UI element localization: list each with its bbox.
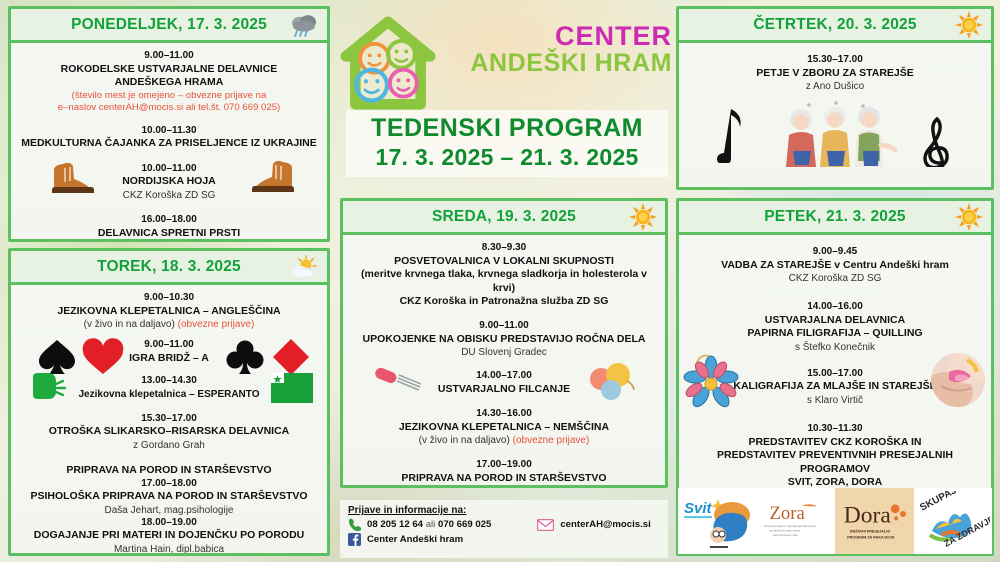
event-item: 9.00–11.00 ROKODELSKE USTVARJALNE DELAVN… [17,50,321,115]
event-time: 18.00–19.00 [17,517,321,530]
event-name: MEDKULTURNA ČAJANKA ZA PRISELJENCE IZ UK… [17,137,321,151]
contact-block: Prijave in informacije na: 08 205 12 64 … [340,500,668,558]
contact-header: Prijave in informacije na: [348,505,660,516]
partner-logo-svit: Svit [678,488,757,554]
event-name: PSIHOLOŠKA PRIPRAVA NA POROD IN STARŠEVS… [17,490,321,504]
event-name: VADBA ZA STAREJŠE v Centru Andeški hram [685,259,985,273]
sun-icon [955,203,983,231]
partner-logos-strip: Svit Zora Državni program zgodnjega odkr… [678,488,992,554]
esperanto-flag-icon [271,373,313,403]
treble-clef-icon [923,101,955,167]
event-sub: z Ano Dušico [685,80,985,93]
event-item: 9.00–11.00 UPOKOJENKE NA OBISKU PREDSTAV… [349,320,659,359]
day-title-monday: PONEDELJEK, 17. 3. 2025 [71,16,267,34]
day-header-friday: PETEK, 21. 3. 2025 [679,201,991,235]
day-card-monday: PONEDELJEK, 17. 3. 2025 9.00–11.00 ROKOD… [8,6,330,242]
contact-facebook-page[interactable]: Center Andeški hram [367,534,463,545]
hiking-boot-icon [51,159,95,197]
wool-balls-icon [583,362,643,402]
day-title-thursday: ČETRTEK, 20. 3. 2025 [753,16,916,34]
day-card-thursday: ČETRTEK, 20. 3. 2025 15.30–17.00 PETJE V… [676,6,994,190]
event-sub-note: (obvezne prijave) [513,435,590,446]
contact-row-facebook: Center Andeški hram [348,533,660,546]
event-sub: DU Slovenj Gradec [349,346,659,359]
event-item: 15.30–17.00 OTROŠKA SLIKARSKO–RISARSKA D… [17,413,321,452]
event-time: 8.30–9.30 [349,242,659,255]
sun-icon [629,203,657,231]
rain-cloud-icon [289,12,319,38]
brand-line-2: ANDEŠKI HRAM [434,50,672,78]
event-name: PETJE V ZBORU ZA STAREJŠE [685,67,985,81]
svit-logo: Svit [680,491,754,551]
event-name: POSVETOVALNICA V LOKALNI SKUPNOSTI (meri… [349,255,659,310]
singing-seniors-choir-illustration [773,99,901,173]
event-item: 15.00–17.00 KALIGRAFIJA ZA MLAJŠE IN STA… [685,368,985,407]
event-time: 9.00–11.00 [349,320,659,333]
event-sub: (v živo in na daljavo) [84,319,178,330]
card-suits-club-diamond-icon [219,337,315,377]
event-name: USTVARJALNA DELAVNICA PAPIRNA FILIGRAFIJ… [685,314,985,341]
event-name: DELAVNICA SPRETNI PRSTI [17,227,321,240]
event-name: JEZIKOVNA KLEPETALNICA – NEMŠČINA [349,421,659,435]
event-item: 10.00–11.30 MEDKULTURNA ČAJANKA ZA PRISE… [17,125,321,151]
svg-text:materničnega vratu: materničnega vratu [772,533,798,537]
contact-row-phone-email: 08 205 12 64 ali 070 669 025 centerAH@mo… [348,518,660,531]
svg-text:DRŽAVNI PRESEJALNI: DRŽAVNI PRESEJALNI [850,528,890,533]
event-item: 9.00–9.45 VADBA ZA STAREJŠE v Centru And… [685,246,985,285]
event-time: 17.00–19.00 [349,459,659,472]
program-title: TEDENSKI PROGRAM [346,114,668,144]
event-time: 10.30–11.30 [685,423,985,436]
event-item: PRIPRAVA NA POROD IN STARŠEVSTVO 17.00–1… [17,464,321,553]
quilled-paper-flower-icon [681,352,741,410]
day-header-thursday: ČETRTEK, 20. 3. 2025 [679,9,991,43]
partner-logo-dora: Dora DRŽAVNI PRESEJALNI PROGRAM ZA RAKA … [835,488,914,554]
envelope-icon [537,519,554,531]
event-group-header: PRIPRAVA NA POROD IN STARŠEVSTVO [17,464,321,478]
event-note: (število mest je omejeno – obvezne prija… [17,90,321,115]
event-name: UPOKOJENKE NA OBISKU PREDSTAVIJO ROČNA D… [349,333,659,347]
event-time: 16.00–18.00 [17,214,321,227]
event-sub: Daša Jehart, mag.psihologije [17,504,321,517]
phone-separator: ali [426,519,436,530]
svg-text:SKUPAJ: SKUPAJ [918,491,958,514]
svg-text:Državni program zgodnjega odkr: Državni program zgodnjega odkrivanja [764,524,816,528]
event-time: 14.00–16.00 [685,301,985,314]
event-name: OTROŠKA SLIKARSKO–RISARSKA DELAVNICA [17,425,321,439]
svg-text:Zora: Zora [769,503,805,524]
svg-text:Dora: Dora [844,503,892,529]
svg-text:predrakavih sprememb: predrakavih sprememb [769,529,800,533]
phone-2: 070 669 025 [438,519,491,530]
event-sub: (v živo in na daljavo) [419,435,513,446]
event-time: 14.30–16.00 [349,408,659,421]
contact-email[interactable]: centerAH@mocis.si [560,519,650,530]
day-title-wednesday: SREDA, 19. 3. 2025 [432,208,576,226]
event-item: 14.00–17.00 USTVARJALNO FILCANJE [349,370,659,396]
event-item: 14.00–16.00 USTVARJALNA DELAVNICA PAPIRN… [685,301,985,354]
event-sub-line: (v živo in na daljavo) (obvezne prijave) [349,434,659,447]
event-item: 14.30–16.00 JEZIKOVNA KLEPETALNICA – NEM… [349,408,659,447]
partner-logo-skupaj-za-zdravje: SKUPAJ ZA ZDRAVJE [914,488,993,554]
sun-icon [955,11,983,39]
event-time: 9.00–10.30 [17,292,321,305]
event-item: 9.00–10.30 JEZIKOVNA KLEPETALNICA – ANGL… [17,292,321,331]
event-name: DOGAJANJE PRI MATERI IN DOJENČKU PO PORO… [17,529,321,543]
event-time: 9.00–9.45 [685,246,985,259]
event-sub: CKZ Koroška ZD SG [685,272,985,285]
day-body-thursday: 15.30–17.00 PETJE V ZBORU ZA STAREJŠE z … [679,43,991,187]
day-header-wednesday: SREDA, 19. 3. 2025 [343,201,665,235]
event-time: 9.00–11.00 [17,50,321,63]
quilling-hands-icon [929,352,987,408]
event-sub: z Gordano Grah [17,439,321,452]
event-item: 16.00–18.00 DELAVNICA SPRETNI PRSTI z Ma… [17,214,321,239]
phone-1: 08 205 12 64 [367,519,423,530]
day-title-tuesday: TOREK, 18. 3. 2025 [97,258,241,276]
speaking-head-icon [27,371,71,405]
event-name: ROKODELSKE USTVARJALNE DELAVNICE ANDEŠKE… [17,63,321,90]
event-item: 13.00–14.30 Jezikovna klepetalnica – ESP… [17,375,321,401]
sun-behind-cloud-icon [289,254,319,280]
facebook-icon[interactable] [348,533,361,546]
brand-name: CENTER ANDEŠKI HRAM [434,22,672,78]
event-name: PRIPRAVA NA POROD IN STARŠEVSTVO NEGA NO… [349,472,659,485]
center-header: CENTER ANDEŠKI HRAM TEDENSKI PROGRAM 17.… [336,0,672,194]
event-item: 10.00–11.00 NORDIJSKA HOJA CKZ Koroška Z… [17,163,321,202]
thursday-illustration-row [685,99,985,177]
day-title-friday: PETEK, 21. 3. 2025 [764,208,905,226]
event-time: 15.30–17.00 [685,54,985,67]
day-header-monday: PONEDELJEK, 17. 3. 2025 [11,9,327,43]
program-title-block: TEDENSKI PROGRAM 17. 3. 2025 – 21. 3. 20… [346,110,668,177]
skupaj-za-zdravje-logo: SKUPAJ ZA ZDRAVJE [916,491,990,551]
event-item: 17.00–19.00 PRIPRAVA NA POROD IN STARŠEV… [349,459,659,485]
phone-icon [348,518,361,531]
svg-text:Svit: Svit [684,500,713,517]
eighth-note-icon [711,105,745,163]
house-with-smiley-faces-icon [340,16,436,112]
event-name: JEZIKOVNA KLEPETALNICA – ANGLEŠČINA [17,305,321,319]
day-card-wednesday: SREDA, 19. 3. 2025 8.30–9.30 POSVETOVALN… [340,198,668,488]
dora-logo: Dora DRŽAVNI PRESEJALNI PROGRAM ZA RAKA … [835,493,914,549]
day-card-tuesday: TOREK, 18. 3. 2025 9.00–10.30 JEZIKOVNA … [8,248,330,556]
event-item: 9.00–11.00 IGRA BRIDŽ – A [17,339,321,365]
event-sub-line: (v živo in na daljavo) (obvezne prijave) [17,318,321,331]
day-body-tuesday: 9.00–10.30 JEZIKOVNA KLEPETALNICA – ANGL… [11,285,327,553]
program-dates: 17. 3. 2025 – 21. 3. 2025 [346,144,668,172]
day-header-tuesday: TOREK, 18. 3. 2025 [11,251,327,285]
event-time: 17.00–18.00 [17,478,321,491]
contact-phones: 08 205 12 64 ali 070 669 025 [367,519,491,530]
zora-logo: Zora Državni program zgodnjega odkrivanj… [757,493,836,549]
event-sub-note: (obvezne prijave) [178,319,255,330]
event-sub: Martina Hain, dipl.babica [17,543,321,553]
felting-needle-icon [373,364,433,398]
hiking-boot-icon [251,157,295,197]
partner-logo-zora: Zora Državni program zgodnjega odkrivanj… [757,488,836,554]
day-body-wednesday: 8.30–9.30 POSVETOVALNICA V LOKALNI SKUPN… [343,235,665,485]
event-time: 10.00–11.30 [17,125,321,138]
day-body-monday: 9.00–11.00 ROKODELSKE USTVARJALNE DELAVN… [11,43,327,239]
svg-text:PROGRAM ZA RAKA DOJK: PROGRAM ZA RAKA DOJK [847,535,895,539]
event-item: 8.30–9.30 POSVETOVALNICA V LOKALNI SKUPN… [349,242,659,309]
brand-line-1: CENTER [434,22,672,50]
event-time: 15.30–17.00 [17,413,321,426]
event-item: 15.30–17.00 PETJE V ZBORU ZA STAREJŠE z … [685,54,985,93]
